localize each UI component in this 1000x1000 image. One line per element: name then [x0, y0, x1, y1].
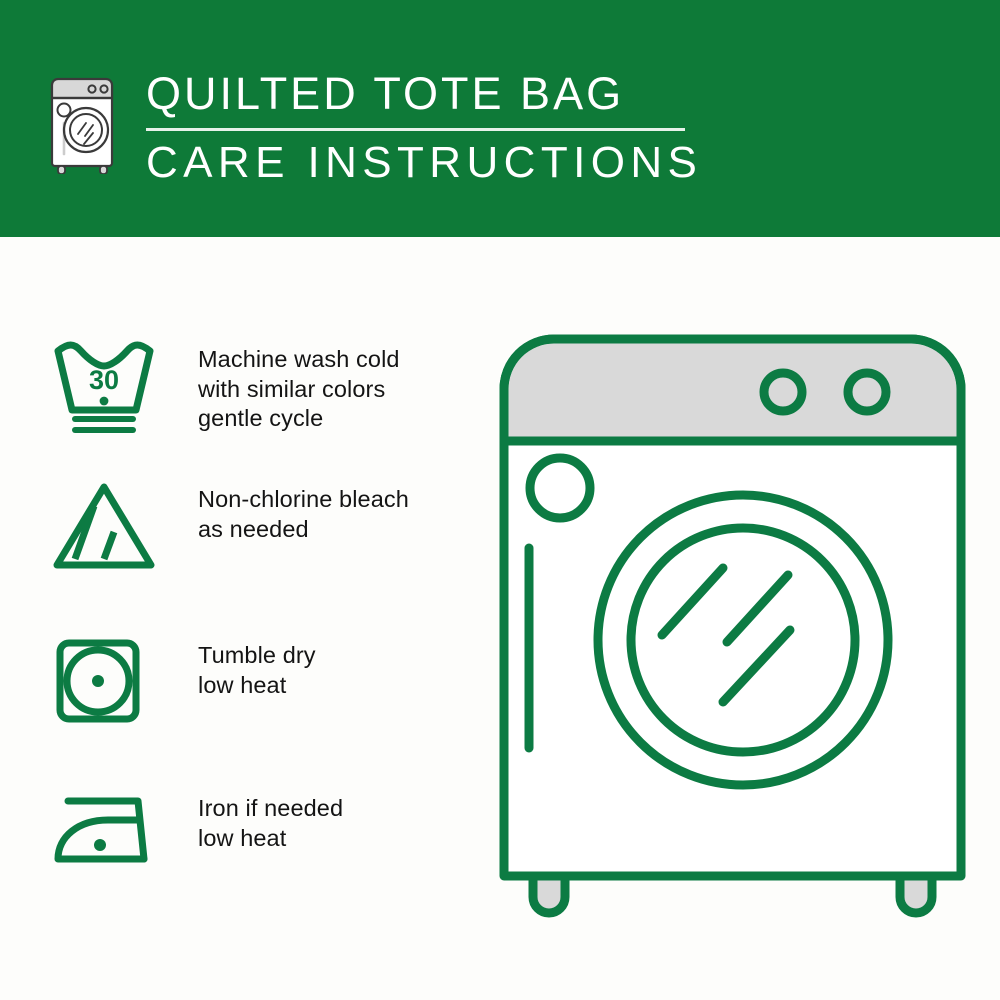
care-item-iron-label: Iron if needed low heat	[198, 789, 343, 853]
header-banner: QUILTED TOTE BAG CARE INSTRUCTIONS	[0, 0, 1000, 237]
wash-temperature-value: 30	[89, 365, 119, 395]
care-line: gentle cycle	[198, 404, 400, 434]
header-text-block: QUILTED TOTE BAG CARE INSTRUCTIONS	[146, 68, 706, 188]
care-item-machine-wash: 30 Machine wash cold with similar colors…	[48, 340, 468, 441]
front-load-washing-machine-illustration	[495, 330, 970, 930]
care-item-iron: Iron if needed low heat	[48, 789, 468, 874]
care-line: Machine wash cold	[198, 345, 400, 375]
care-item-machine-wash-label: Machine wash cold with similar colors ge…	[198, 340, 400, 434]
care-instructions-page: QUILTED TOTE BAG CARE INSTRUCTIONS 30	[0, 0, 1000, 1000]
care-line: Non-chlorine bleach	[198, 485, 409, 515]
care-item-bleach-label: Non-chlorine bleach as needed	[198, 480, 409, 544]
care-item-tumble-dry: Tumble dry low heat	[48, 636, 468, 731]
leg-left	[533, 875, 565, 913]
tumble-dry-square-icon	[48, 636, 160, 731]
non-chlorine-bleach-triangle-icon	[48, 480, 160, 575]
machine-wash-tub-icon: 30	[48, 340, 160, 441]
page-title-care-instructions: CARE INSTRUCTIONS	[146, 138, 706, 188]
washing-machine-icon	[44, 66, 128, 174]
leg-right	[900, 875, 932, 913]
care-line: with similar colors	[198, 375, 400, 405]
care-line: as needed	[198, 515, 409, 545]
iron-icon	[48, 789, 160, 874]
care-line: Tumble dry	[198, 641, 316, 671]
care-line: Iron if needed	[198, 794, 343, 824]
care-item-tumble-dry-label: Tumble dry low heat	[198, 636, 316, 700]
care-line: low heat	[198, 824, 343, 854]
title-divider	[146, 128, 685, 131]
page-title-product: QUILTED TOTE BAG	[146, 68, 706, 120]
care-line: low heat	[198, 671, 316, 701]
care-item-bleach: Non-chlorine bleach as needed	[48, 480, 468, 575]
care-symbol-list: 30 Machine wash cold with similar colors…	[0, 237, 480, 1000]
